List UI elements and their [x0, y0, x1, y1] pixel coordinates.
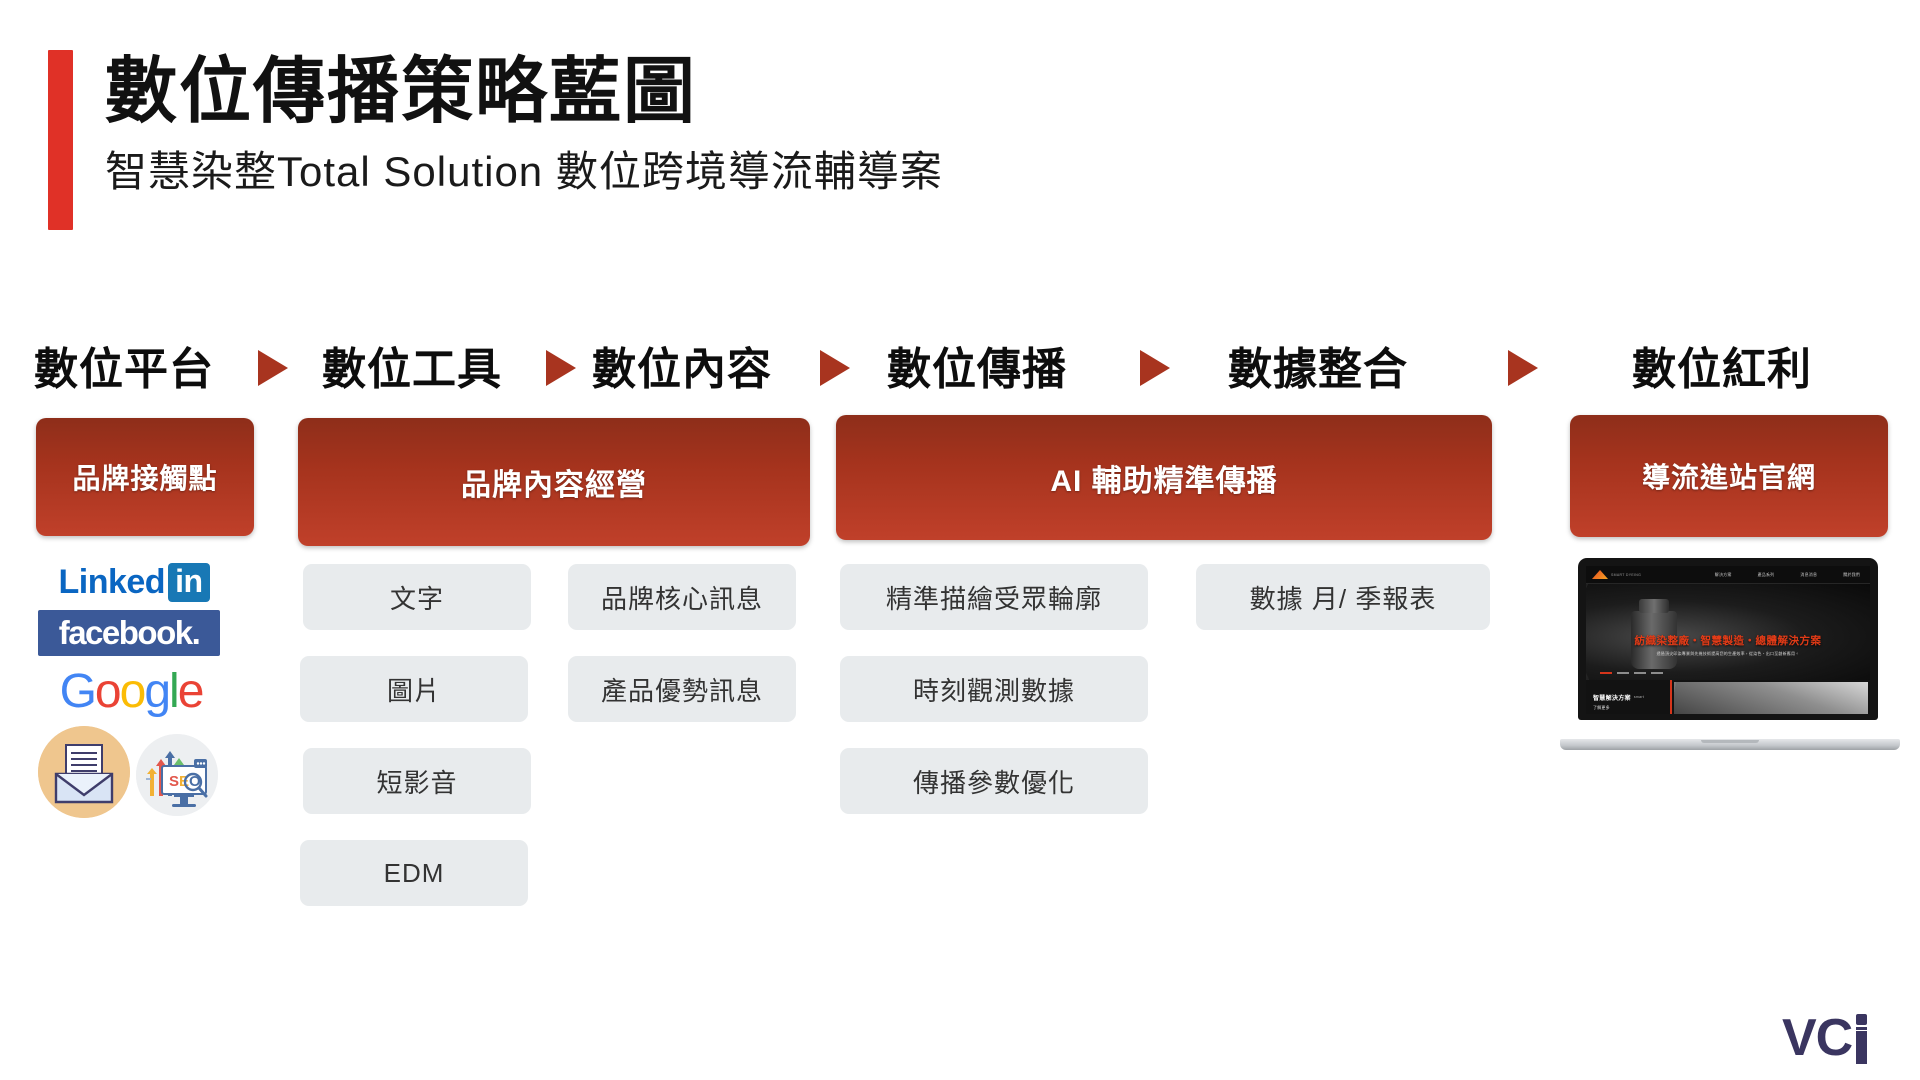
vci-i-bar: [1856, 1031, 1867, 1064]
mockup-strip-label: 智慧解決方案: [1593, 693, 1631, 702]
mockup-solution-strip: 智慧解決方案 smart 了解更多: [1586, 680, 1870, 714]
google-letter: o: [120, 664, 145, 719]
chip-label: 數據 月/ 季報表: [1250, 579, 1437, 616]
vci-i-tick: [1856, 1027, 1867, 1030]
chip-label: EDM: [384, 858, 445, 889]
mockup-nav-item[interactable]: 產品系列: [1758, 572, 1775, 578]
flow-step-1-label: 數位平台: [34, 330, 214, 400]
mockup-carousel-dots[interactable]: [1600, 672, 1663, 674]
mockup-site-logo-icon: [1592, 570, 1608, 579]
slide-root: 數位傳播策略藍圖 智慧染整Total Solution 數位跨境導流輔導案 數位…: [0, 0, 1920, 1080]
page-title: 數位傳播策略藍圖: [105, 54, 943, 132]
flow-step-6-label: 數位紅利: [1622, 330, 1822, 400]
flow-arrow-1-icon: [258, 350, 288, 386]
mockup-hero-subline: 透過頂尖印染專業與先進技術提高您的生產效率，從染色、出口至創新應用。: [1586, 651, 1870, 657]
svg-text:S: S: [169, 773, 179, 790]
flow-arrow-2-icon: [546, 350, 576, 386]
chip-label: 品牌核心訊息: [601, 579, 763, 616]
flow-step-4-label: 數位傳播: [882, 330, 1072, 400]
section-header-label: 品牌接觸點: [72, 457, 217, 497]
section-header-brand-touchpoint[interactable]: 品牌接觸點: [36, 418, 254, 536]
content-chip[interactable]: 短影音: [303, 748, 531, 814]
website-laptop-mockup: SMART DYEING 解決方案 產品系列 消息消息 關於我們 紡織染整廠・智…: [1560, 558, 1900, 750]
flow-arrow-5-icon: [1508, 350, 1538, 386]
chip-label: 圖片: [387, 671, 441, 708]
linkedin-logo: Linked in: [38, 560, 230, 604]
carousel-dot[interactable]: [1617, 672, 1629, 674]
mockup-nav-item[interactable]: 消息消息: [1800, 572, 1817, 578]
vci-i-dot: [1856, 1014, 1867, 1025]
mockup-strip-label-small: smart: [1634, 695, 1644, 699]
laptop-base: [1560, 739, 1900, 750]
title-accent-bar: [48, 50, 73, 230]
mockup-hero-headline: 紡織染整廠・智慧製造・總體解決方案: [1586, 633, 1870, 648]
content-chip[interactable]: 精準描繪受眾輪廓: [840, 564, 1148, 630]
flow-step-5-label: 數據整合: [1218, 330, 1418, 400]
chip-label: 傳播參數優化: [913, 763, 1075, 800]
flow-step-2-label: 數位工具: [322, 330, 502, 400]
chip-label: 精準描繪受眾輪廓: [886, 579, 1102, 616]
section-header-site-traffic[interactable]: 導流進站官網: [1570, 415, 1888, 537]
content-chip[interactable]: 時刻觀測數據: [840, 656, 1148, 722]
flow-arrow-4-icon: [1140, 350, 1170, 386]
section-header-ai-broadcast[interactable]: AI 輔助精準傳播: [836, 415, 1492, 540]
google-logo: G o o g l e: [38, 664, 224, 718]
seo-icon: S E O: [136, 734, 218, 816]
content-chip[interactable]: 文字: [303, 564, 531, 630]
touchpoint-icon-row: S E O: [38, 726, 238, 818]
title-block: 數位傳播策略藍圖 智慧染整Total Solution 數位跨境導流輔導案: [48, 50, 943, 230]
section-header-brand-content[interactable]: 品牌內容經營: [298, 418, 810, 546]
flow-step-3-label: 數位內容: [592, 330, 772, 400]
brand-touchpoint-logo-stack: Linked in facebook. G o o g l e: [38, 560, 238, 818]
section-header-label: 品牌內容經營: [461, 460, 647, 504]
page-subtitle: 智慧染整Total Solution 數位跨境導流輔導案: [105, 146, 943, 199]
google-letter: l: [169, 664, 178, 719]
flow-header-row: 數位平台 數位工具 數位內容 數位傳播 數據整合 數位紅利: [0, 330, 1920, 400]
google-letter: o: [95, 664, 120, 719]
carousel-dot[interactable]: [1651, 672, 1663, 674]
vci-logo: VC: [1782, 1012, 1868, 1064]
laptop-lid: SMART DYEING 解決方案 產品系列 消息消息 關於我們 紡織染整廠・智…: [1578, 558, 1878, 720]
flow-arrow-3-icon: [820, 350, 850, 386]
content-chip[interactable]: 傳播參數優化: [840, 748, 1148, 814]
content-chip[interactable]: 產品優勢訊息: [568, 656, 796, 722]
carousel-dot[interactable]: [1634, 672, 1646, 674]
mockup-strip-image: [1674, 682, 1868, 714]
carousel-dot-active[interactable]: [1600, 672, 1612, 674]
chip-label: 文字: [390, 579, 444, 616]
vci-wordmark: VC: [1782, 1012, 1852, 1064]
mockup-strip-button[interactable]: 了解更多: [1593, 705, 1610, 711]
chip-label: 產品優勢訊息: [601, 671, 763, 708]
google-letter: g: [144, 664, 169, 719]
chip-label: 短影音: [376, 763, 457, 800]
google-letter: e: [178, 664, 203, 719]
linkedin-wordmark: Linked: [58, 563, 165, 602]
section-header-label: 導流進站官網: [1642, 456, 1816, 496]
linkedin-badge-icon: in: [168, 563, 209, 602]
mockup-hero-image: 紡織染整廠・智慧製造・總體解決方案 透過頂尖印染專業與先進技術提高您的生產效率，…: [1586, 584, 1870, 680]
content-chip[interactable]: 數據 月/ 季報表: [1196, 564, 1490, 630]
laptop-screen: SMART DYEING 解決方案 產品系列 消息消息 關於我們 紡織染整廠・智…: [1586, 566, 1870, 714]
chip-label: 時刻觀測數據: [913, 671, 1075, 708]
section-header-label: AI 輔助精準傳播: [1050, 456, 1277, 500]
vci-i-glyph: [1855, 1012, 1868, 1064]
facebook-logo: facebook.: [38, 610, 220, 656]
content-chip[interactable]: 圖片: [300, 656, 528, 722]
title-text-group: 數位傳播策略藍圖 智慧染整Total Solution 數位跨境導流輔導案: [105, 50, 943, 230]
facebook-wordmark: facebook.: [59, 614, 200, 652]
mockup-site-nav: SMART DYEING 解決方案 產品系列 消息消息 關於我們: [1586, 566, 1870, 584]
mockup-nav-item[interactable]: 關於我們: [1843, 572, 1860, 578]
content-chip[interactable]: 品牌核心訊息: [568, 564, 796, 630]
mockup-nav-item[interactable]: 解決方案: [1715, 572, 1732, 578]
mockup-nav-items: 解決方案 產品系列 消息消息 關於我們: [1715, 572, 1864, 578]
email-icon: [38, 726, 130, 818]
google-letter: G: [60, 664, 95, 719]
content-chip[interactable]: EDM: [300, 840, 528, 906]
mockup-site-logo-text: SMART DYEING: [1611, 573, 1641, 577]
